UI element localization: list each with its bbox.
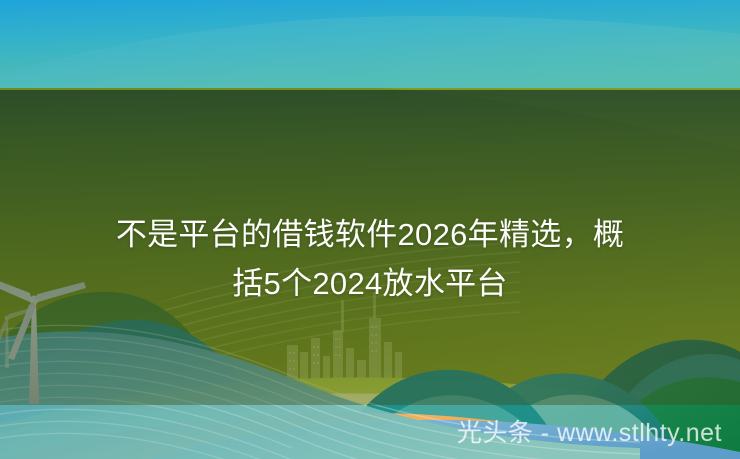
cover-image: 不是平台的借钱软件2026年精选，概 括5个2024放水平台 光头条 - www… bbox=[0, 0, 740, 459]
background-illustration bbox=[0, 0, 740, 459]
